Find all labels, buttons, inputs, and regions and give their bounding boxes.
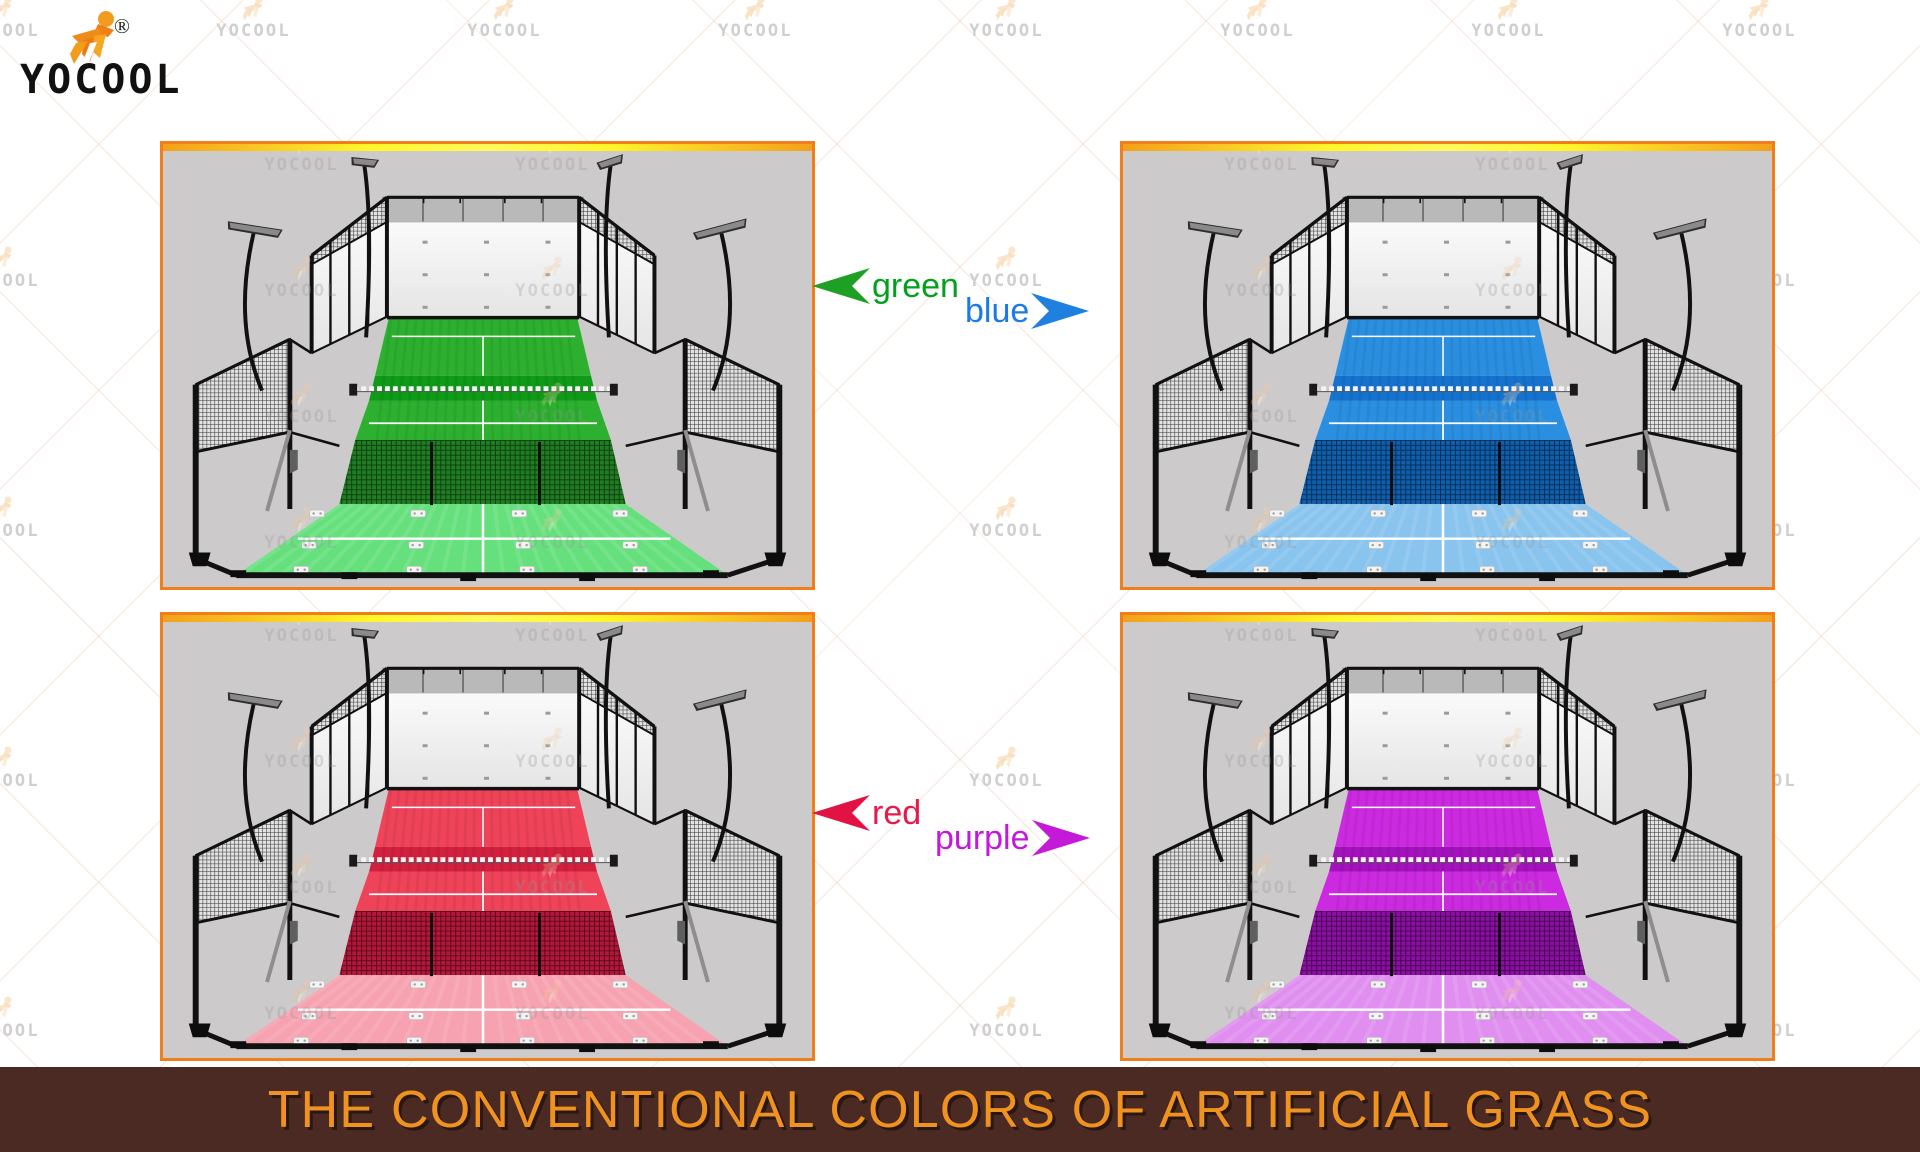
watermark-text: YOCOOL [0, 773, 40, 790]
watermark-text: YOCOOL [0, 523, 40, 540]
watermark-tile: YOCOOL [0, 220, 65, 290]
panel-top-glow [163, 144, 812, 151]
watermark-tile: YOCOOL [1195, 0, 1320, 40]
watermark-text: YOCOOL [1471, 23, 1546, 40]
watermark-text: YOCOOL [969, 1023, 1044, 1040]
panel-top-glow [1123, 615, 1772, 622]
watermark-tile: YOCOOL [944, 0, 1069, 40]
watermark-runner-icon [990, 746, 1024, 772]
arrow-left-icon [812, 266, 872, 306]
watermark-runner-icon [0, 246, 20, 272]
watermark-runner-icon [0, 746, 20, 772]
watermark-text: YOCOOL [718, 23, 793, 40]
brand-wordmark: YOCOOL [20, 60, 183, 100]
arrow-right-icon [1029, 291, 1089, 331]
watermark-tile: YOCOOL [944, 220, 1069, 290]
watermark-tile: YOCOOL [693, 0, 818, 40]
color-label-text: blue [965, 294, 1029, 328]
watermark-text: YOCOOL [1722, 23, 1797, 40]
color-label-text: red [872, 796, 921, 830]
watermark-runner-icon [990, 496, 1024, 522]
watermark-text: YOCOOL [0, 273, 40, 290]
color-label-purple: purple [935, 818, 1090, 858]
watermark-text: YOCOOL [1220, 23, 1295, 40]
watermark-runner-icon [0, 996, 20, 1022]
bottom-banner: THE CONVENTIONAL COLORS OF ARTIFICIAL GR… [0, 1067, 1920, 1152]
brand-logo: ® YOCOOL [14, 8, 264, 104]
panel-top-glow [1123, 144, 1772, 151]
watermark-runner-icon [1743, 0, 1777, 22]
padel-court-illustration [163, 144, 812, 587]
padel-court-blue[interactable]: YOCOOLYOCOOLYOCOOLYOCOOLYOCOOLYOCOOLYOCO… [1120, 141, 1775, 590]
watermark-runner-icon [990, 246, 1024, 272]
watermark-text: YOCOOL [969, 523, 1044, 540]
color-label-text: purple [935, 821, 1030, 855]
watermark-tile: YOCOOL [1697, 0, 1822, 40]
color-label-green: green [812, 266, 959, 306]
banner-title: THE CONVENTIONAL COLORS OF ARTIFICIAL GR… [268, 1080, 1653, 1140]
arrow-right-icon [1030, 818, 1090, 858]
watermark-runner-icon [0, 496, 20, 522]
watermark-runner-icon [990, 996, 1024, 1022]
color-label-text: green [872, 269, 959, 303]
padel-court-green[interactable]: YOCOOLYOCOOLYOCOOLYOCOOLYOCOOLYOCOOLYOCO… [160, 141, 815, 590]
watermark-text: YOCOOL [969, 773, 1044, 790]
watermark-tile: YOCOOL [0, 470, 65, 540]
watermark-text: YOCOOL [969, 273, 1044, 290]
padel-court-illustration [1123, 615, 1772, 1058]
registered-trademark-symbol: ® [114, 14, 130, 39]
watermark-text: YOCOOL [467, 23, 542, 40]
panel-top-glow [163, 615, 812, 622]
watermark-tile: YOCOOL [0, 970, 65, 1040]
color-label-blue: blue [965, 291, 1089, 331]
watermark-runner-icon [1492, 0, 1526, 22]
watermark-runner-icon [990, 0, 1024, 22]
watermark-tile: YOCOOL [944, 470, 1069, 540]
padel-court-purple[interactable]: YOCOOLYOCOOLYOCOOLYOCOOLYOCOOLYOCOOLYOCO… [1120, 612, 1775, 1061]
padel-court-red[interactable]: YOCOOLYOCOOLYOCOOLYOCOOLYOCOOLYOCOOLYOCO… [160, 612, 815, 1061]
watermark-tile: YOCOOL [442, 0, 567, 40]
color-label-red: red [812, 793, 921, 833]
watermark-text: YOCOOL [0, 1023, 40, 1040]
watermark-text: YOCOOL [969, 23, 1044, 40]
watermark-tile: YOCOOL [1446, 0, 1571, 40]
padel-court-illustration [163, 615, 812, 1058]
watermark-tile: YOCOOL [944, 720, 1069, 790]
watermark-runner-icon [739, 0, 773, 22]
watermark-tile: YOCOOL [0, 720, 65, 790]
watermark-runner-icon [488, 0, 522, 22]
watermark-runner-icon [1241, 0, 1275, 22]
arrow-left-icon [812, 793, 872, 833]
padel-court-illustration [1123, 144, 1772, 587]
watermark-tile: YOCOOL [944, 970, 1069, 1040]
